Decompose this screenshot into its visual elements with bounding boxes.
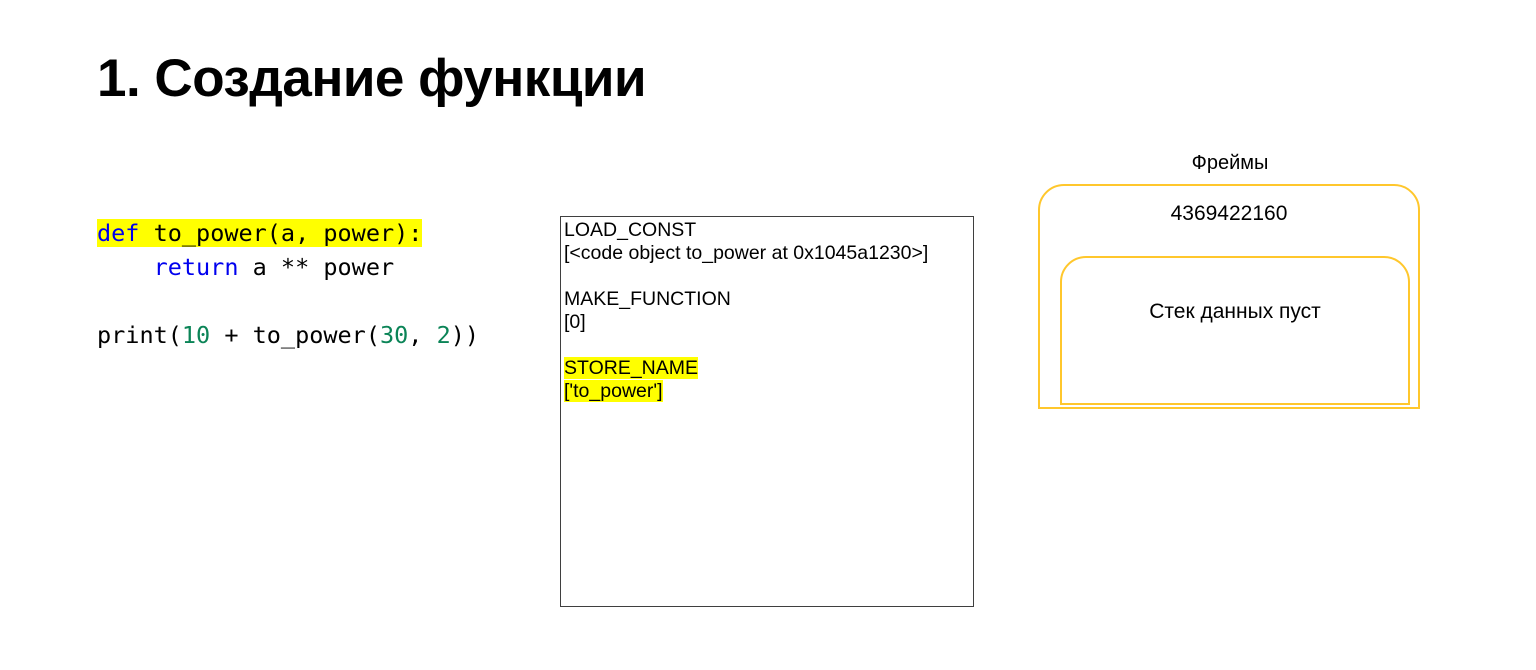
bytecode-line: ['to_power'] [564,380,973,403]
bytecode-instruction-list: LOAD_CONST[<code object to_power at 0x10… [561,217,973,403]
code-line: print(10 + to_power(30, 2)) [97,318,479,352]
frames-panel: Фреймы 4369422160 Стек данных пуст [1037,152,1423,410]
code-token [97,253,154,281]
code-token: print( [97,321,182,349]
frame-box-outer: 4369422160 Стек данных пуст [1038,184,1420,409]
bytecode-line: LOAD_CONST [564,219,973,242]
data-stack-status-label: Стек данных пуст [1062,300,1408,324]
bytecode-line [564,265,973,288]
frame-id-label: 4369422160 [1040,202,1418,226]
code-line: def to_power(a, power): [97,216,479,250]
bytecode-line: MAKE_FUNCTION [564,288,973,311]
page-title: 1. Создание функции [97,48,646,109]
code-token: 10 [182,321,210,349]
bytecode-line-text: ['to_power'] [564,380,663,402]
bytecode-line-text: STORE_NAME [564,357,698,379]
bytecode-line-text: [0] [564,311,586,333]
code-token: return [154,253,239,281]
bytecode-line: [0] [564,311,973,334]
code-token: , [408,321,436,349]
code-token: 30 [380,321,408,349]
code-token: + to_power( [210,321,380,349]
code-token: def [97,219,139,247]
bytecode-line: STORE_NAME [564,357,973,380]
bytecode-line-text: LOAD_CONST [564,219,696,241]
frames-caption: Фреймы [1037,152,1423,175]
code-token: 2 [437,321,451,349]
code-token: )) [451,321,479,349]
code-highlight: def to_power(a, power): [97,219,422,247]
bytecode-line [564,334,973,357]
code-token: a ** power [238,253,394,281]
code-line [97,284,479,318]
data-stack-box: Стек данных пуст [1060,256,1410,405]
bytecode-panel: LOAD_CONST[<code object to_power at 0x10… [560,216,974,607]
bytecode-line-text: MAKE_FUNCTION [564,288,731,310]
source-code-block: def to_power(a, power): return a ** powe… [97,216,479,352]
code-token: to_power(a, power): [139,219,422,247]
code-line: return a ** power [97,250,479,284]
bytecode-line: [<code object to_power at 0x1045a1230>] [564,242,973,265]
bytecode-line-text: [<code object to_power at 0x1045a1230>] [564,242,928,264]
